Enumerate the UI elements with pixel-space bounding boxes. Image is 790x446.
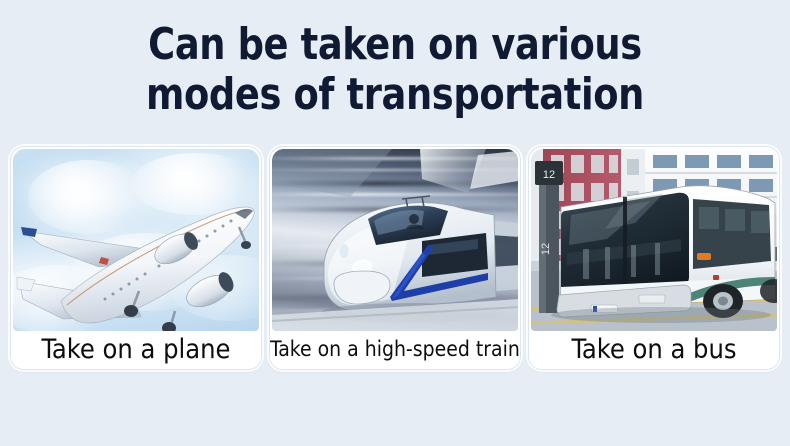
card-bus-label: Take on a bus — [529, 331, 779, 369]
bus-illustration: 12 12 — [531, 149, 777, 331]
airplane-in-sky-photo — [13, 149, 259, 331]
page-title-line-1: Can be taken on various — [28, 20, 763, 70]
promo-banner: Can be taken on various modes of transpo… — [0, 0, 790, 446]
page-title: Can be taken on various modes of transpo… — [0, 20, 790, 120]
card-high-speed-train-label: Take on a high-speed train — [270, 331, 520, 369]
card-bus[interactable]: 12 12 — [528, 146, 780, 370]
card-high-speed-train[interactable]: Take on a high-speed train — [269, 146, 521, 370]
card-plane[interactable]: Take on a plane — [10, 146, 262, 370]
high-speed-train-photo — [272, 149, 518, 331]
card-plane-label: Take on a plane — [11, 331, 261, 369]
bus-stop-sign-number-side: 12 — [540, 243, 552, 255]
bus-stop-sign-number-top: 12 — [543, 169, 555, 181]
train-illustration — [272, 149, 518, 331]
transport-card-row: Take on a plane — [10, 146, 780, 372]
city-bus-photo: 12 12 — [531, 149, 777, 331]
page-title-line-2: modes of transportation — [28, 70, 763, 120]
airplane-illustration — [13, 149, 259, 331]
